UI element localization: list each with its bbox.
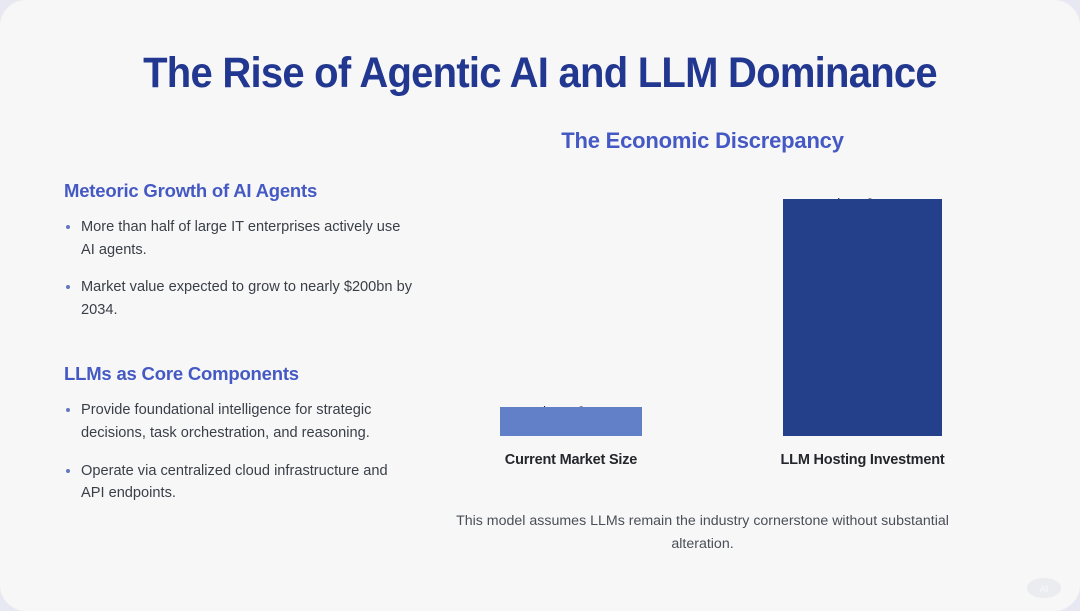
chart-title: The Economic Discrepancy xyxy=(440,128,965,154)
slide-canvas: The Rise of Agentic AI and LLM Dominance… xyxy=(0,0,1080,611)
list-item: Market value expected to grow to nearly … xyxy=(64,276,414,321)
svg-text:AI: AI xyxy=(1040,584,1049,594)
left-content-column: Meteoric Growth of AI Agents More than h… xyxy=(64,180,414,505)
page-title: The Rise of Agentic AI and LLM Dominance xyxy=(38,50,1042,97)
chart-panel: The Economic Discrepancy $5.6bn Current … xyxy=(440,128,1040,568)
bullet-list-growth: More than half of large IT enterprises a… xyxy=(64,216,414,321)
bullet-list-llms: Provide foundational intelligence for st… xyxy=(64,399,414,504)
section-heading-llms: LLMs as Core Components xyxy=(64,363,414,385)
bar-category-label: Current Market Size xyxy=(470,452,672,468)
list-item: More than half of large IT enterprises a… xyxy=(64,216,414,261)
chart-footnote: This model assumes LLMs remain the indus… xyxy=(440,510,965,555)
corner-watermark-icon: AI xyxy=(1024,575,1064,601)
bar-category-label: LLM Hosting Investment xyxy=(753,452,972,468)
list-item: Operate via centralized cloud infrastruc… xyxy=(64,460,414,505)
section-heading-growth: Meteoric Growth of AI Agents xyxy=(64,180,414,202)
bar-llm-hosting-investment xyxy=(783,199,942,436)
bar-current-market-size xyxy=(500,407,642,436)
list-item: Provide foundational intelligence for st… xyxy=(64,399,414,444)
bar-chart-plot: $5.6bn Current Market Size $57bn LLM Hos… xyxy=(440,168,965,468)
